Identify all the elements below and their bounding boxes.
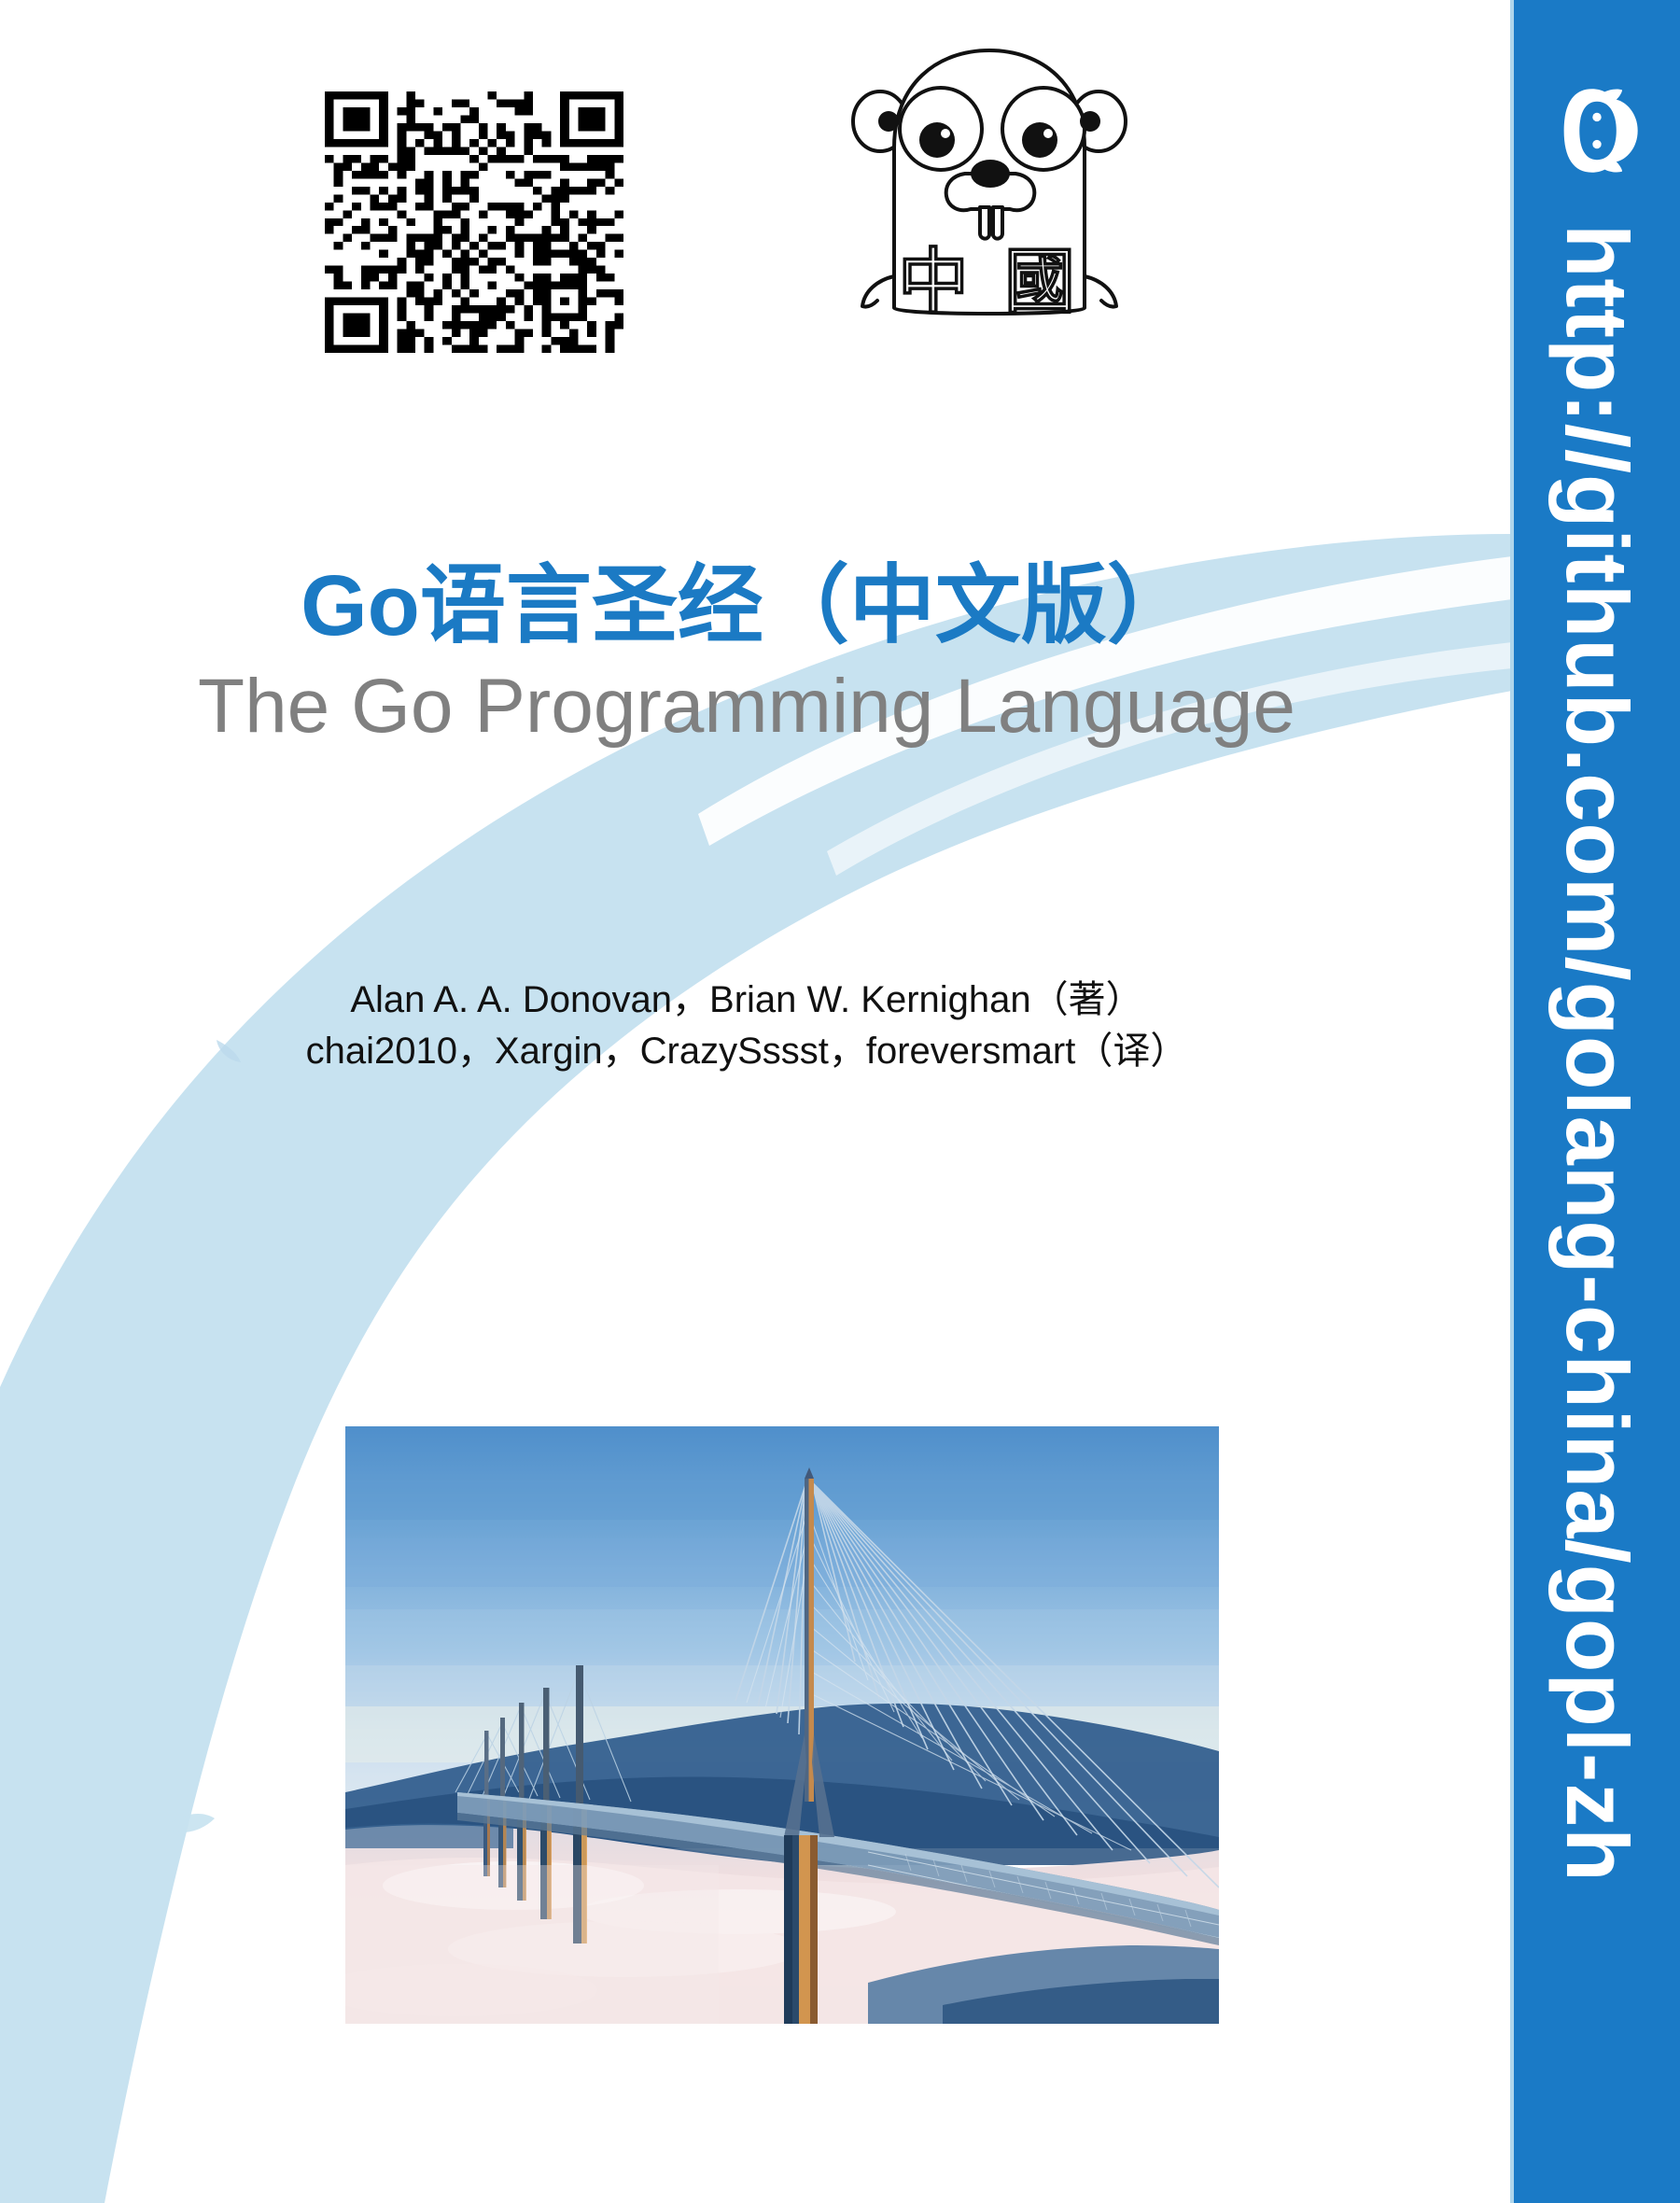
gopher-tooth-left bbox=[980, 207, 989, 239]
authors-line-translators: chai2010，Xargin，CrazySssst，foreversmart（… bbox=[0, 1026, 1493, 1077]
gopher-right-pupil bbox=[1022, 122, 1057, 158]
repository-url[interactable]: http://github.com/golang-china/gopl-zh bbox=[1514, 224, 1680, 2072]
page-subtitle-english: The Go Programming Language bbox=[0, 664, 1493, 750]
page-title-chinese: Go语言圣经（中文版） bbox=[0, 560, 1493, 652]
gopher-left-pupil bbox=[919, 122, 955, 158]
go-gopher-mascot: 中 國 bbox=[840, 35, 1139, 306]
gopher-left-arm bbox=[862, 276, 894, 307]
gopher-tooth-right bbox=[993, 207, 1002, 239]
authors-block: Alan A. A. Donovan，Brian W. Kernighan（著）… bbox=[0, 975, 1493, 1077]
gopher-right-arm bbox=[1085, 276, 1116, 307]
book-cover: 中 國 Go语言圣经（中文版） The Go Programming Langu… bbox=[0, 0, 1680, 2203]
authors-line-original: Alan A. A. Donovan，Brian W. Kernighan（著） bbox=[0, 975, 1493, 1026]
title-block: Go语言圣经（中文版） The Go Programming Language bbox=[0, 560, 1493, 750]
gopher-belly-char-zhong: 中 bbox=[898, 240, 969, 316]
millau-viaduct-bridge-photo bbox=[345, 1426, 1219, 2024]
github-sidebar: http://github.com/golang-china/gopl-zh bbox=[1510, 0, 1680, 2203]
qr-code-canvas bbox=[325, 91, 623, 353]
gopher-nose bbox=[971, 160, 1010, 188]
github-octocat-icon[interactable] bbox=[1548, 82, 1645, 179]
qr-code[interactable] bbox=[325, 91, 623, 353]
gopher-belly-char-guo: 國 bbox=[1004, 240, 1075, 316]
gopher-right-ear-dot bbox=[1080, 111, 1100, 132]
gopher-left-ear-dot bbox=[878, 111, 899, 132]
